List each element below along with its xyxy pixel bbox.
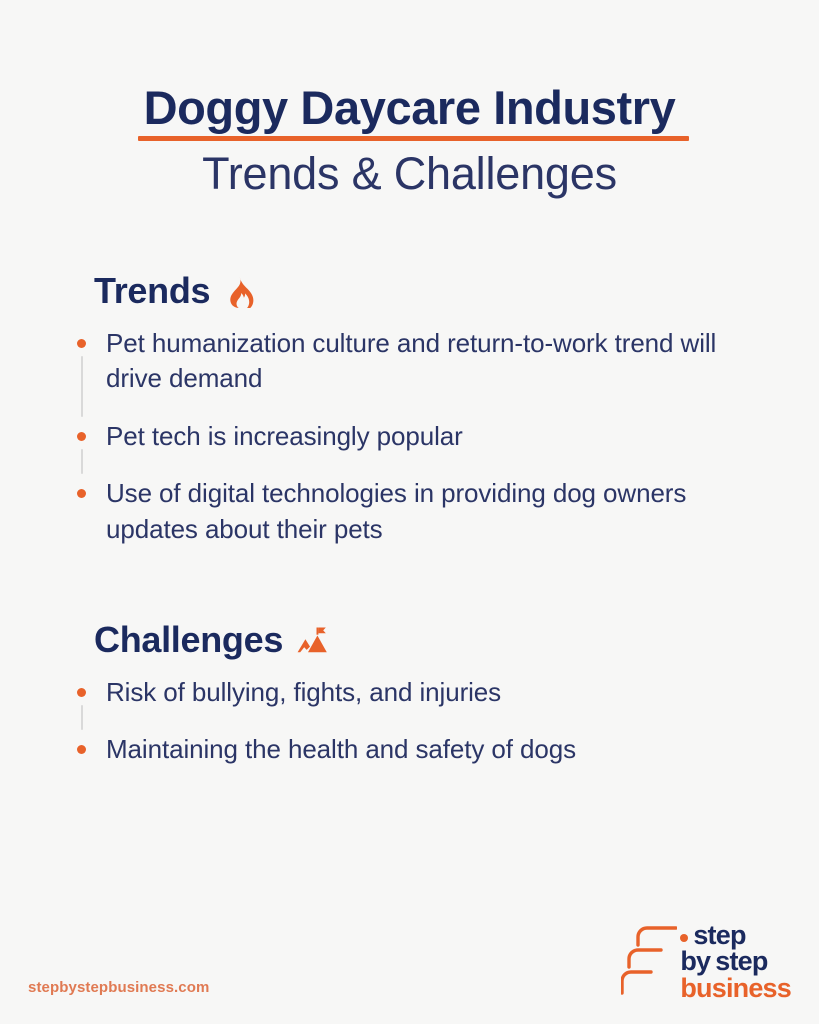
- logo-steps-bracket-icon: [621, 923, 677, 1000]
- bullet-connector-line: [81, 449, 83, 474]
- logo-wordmark: step by step business: [680, 923, 791, 1002]
- section-challenges: Challenges Risk of bullying, fights, and…: [0, 619, 819, 768]
- list-item: Use of digital technologies in providing…: [68, 476, 779, 547]
- logo-line-3: business: [680, 975, 791, 1002]
- list-item-text: Risk of bullying, fights, and injuries: [106, 677, 501, 707]
- list-item-text: Pet humanization culture and return-to-w…: [106, 328, 716, 393]
- logo-text-step-2: step: [715, 949, 767, 975]
- logo-dot-icon: [680, 934, 688, 942]
- footer: stepbystepbusiness.com step by step: [0, 906, 819, 1024]
- section-challenges-header: Challenges: [94, 619, 779, 661]
- list-item-text: Maintaining the health and safety of dog…: [106, 734, 576, 764]
- list-item: Maintaining the health and safety of dog…: [68, 732, 779, 767]
- list-item: Pet tech is increasingly popular: [68, 419, 779, 454]
- mountain-flag-icon: [295, 624, 329, 658]
- infographic-canvas: Doggy Daycare Industry Trends & Challeng…: [0, 0, 819, 1024]
- section-trends-header: Trends: [94, 270, 779, 312]
- title-underline: [138, 136, 690, 141]
- logo-text-business: business: [680, 976, 791, 1002]
- challenges-list: Risk of bullying, fights, and injuries M…: [68, 675, 779, 768]
- page-subtitle: Trends & Challenges: [0, 149, 819, 199]
- trends-list: Pet humanization culture and return-to-w…: [68, 326, 779, 547]
- header: Doggy Daycare Industry Trends & Challeng…: [0, 0, 819, 198]
- section-trends-title: Trends: [94, 270, 210, 312]
- page-title: Doggy Daycare Industry: [144, 82, 676, 135]
- bullet-connector-line: [81, 356, 83, 417]
- footer-website-url[interactable]: stepbystepbusiness.com: [28, 979, 209, 996]
- title-block: Doggy Daycare Industry: [138, 82, 682, 141]
- logo-line-2: by step: [680, 949, 767, 975]
- brand-logo[interactable]: step by step business: [621, 923, 791, 1002]
- bullet-dot-icon: [77, 489, 86, 498]
- bullet-dot-icon: [77, 688, 86, 697]
- bullet-connector-line: [81, 705, 83, 730]
- list-item: Pet humanization culture and return-to-w…: [68, 326, 779, 397]
- bullet-dot-icon: [77, 339, 86, 348]
- fire-icon: [222, 275, 256, 309]
- list-item-text: Pet tech is increasingly popular: [106, 421, 463, 451]
- section-trends: Trends Pet humanization culture and retu…: [0, 270, 819, 547]
- bullet-dot-icon: [77, 745, 86, 754]
- logo-text-by: by: [680, 949, 710, 975]
- section-challenges-title: Challenges: [94, 619, 283, 661]
- bullet-dot-icon: [77, 432, 86, 441]
- list-item: Risk of bullying, fights, and injuries: [68, 675, 779, 710]
- list-item-text: Use of digital technologies in providing…: [106, 478, 686, 543]
